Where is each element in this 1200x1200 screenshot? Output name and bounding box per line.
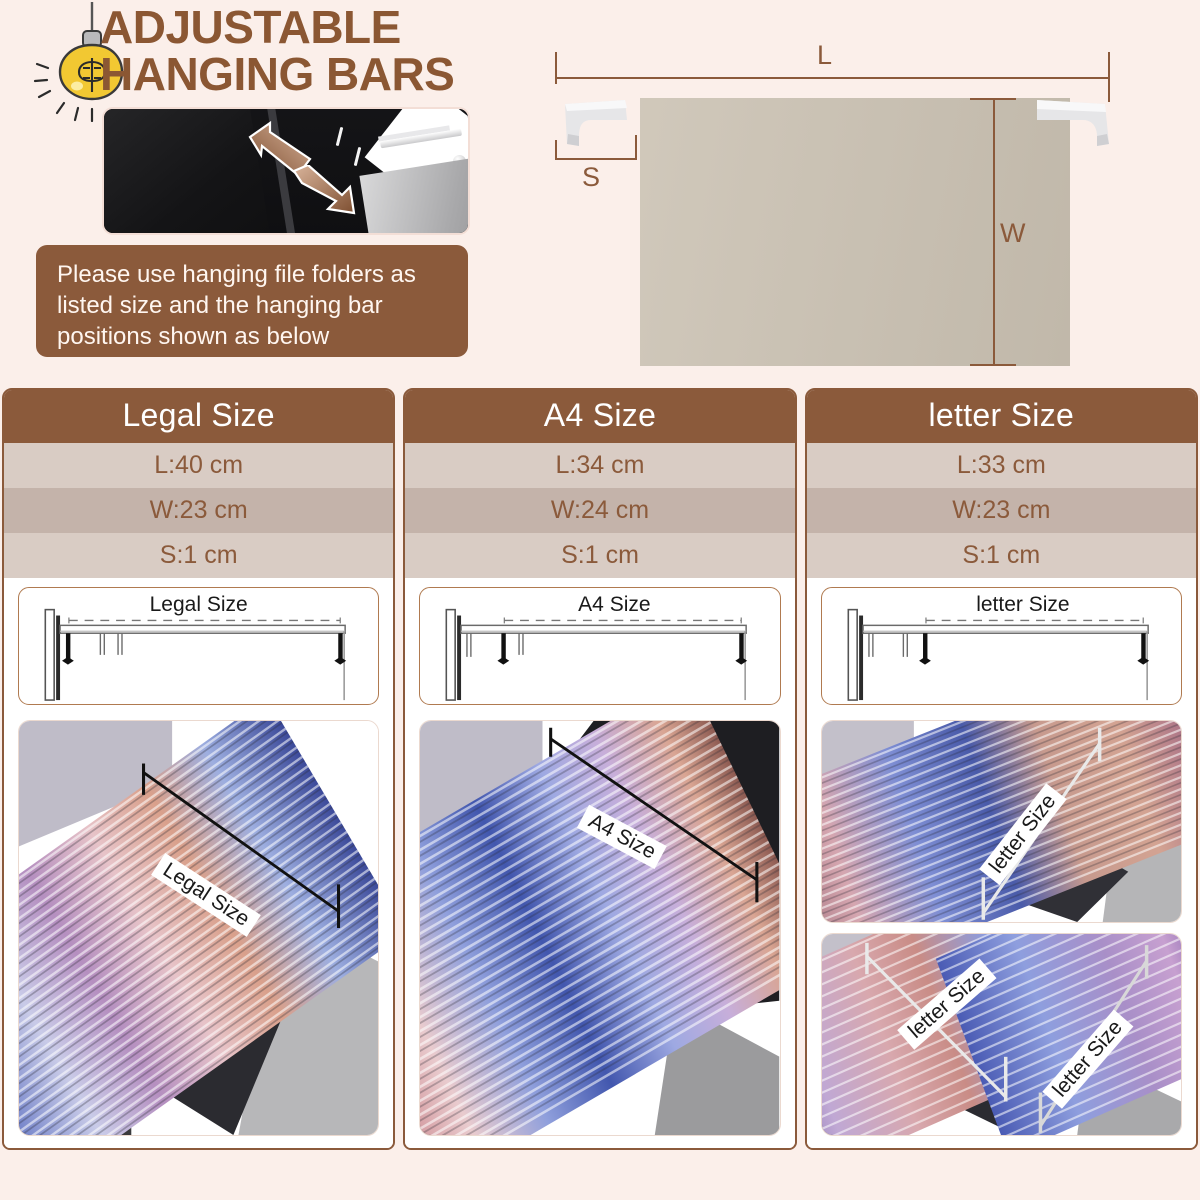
folder-photo-graphic [420,721,779,1135]
spec-L-a4: L:34 cm [405,443,794,488]
bar-position-diagram-a4: A4 Size [419,587,780,705]
arrow-down-right-icon [290,165,360,223]
photo-cell-a4: A4 Size [405,712,794,1148]
dim-S-line [555,158,637,160]
dim-label-S: S [582,162,600,193]
bar-diagram-label-legal: Legal Size [142,592,256,618]
size-table: Legal Size L:40 cm W:23 cm S:1 cm [0,388,1200,1150]
photo-cell-letter: letter Size [807,712,1196,1148]
header-section: ADJUSTABLE HANGING BARS [0,0,1200,385]
title-line-1: ADJUSTABLE [100,4,570,51]
bar-position-cell-letter: letter Size [807,578,1196,712]
dim-L-line [555,77,1110,79]
column-header-a4: A4 Size [405,390,794,443]
bar-position-diagram-legal: Legal Size [18,587,379,705]
dim-label-L: L [817,40,832,71]
size-column-a4: A4 Size L:34 cm W:24 cm S:1 cm [403,388,796,1150]
dim-L-tick-right [1108,52,1110,102]
folder-photo-letter-1: letter Size [821,720,1182,923]
instruction-note: Please use hanging file folders as liste… [36,245,468,357]
hanging-bar-hook-icon [563,98,643,150]
page-title: ADJUSTABLE HANGING BARS [100,4,570,98]
size-column-legal: Legal Size L:40 cm W:23 cm S:1 cm [2,388,395,1150]
folder-photo-graphic [822,721,1181,922]
folder-photo-letter-2: letter Size letter Size [821,933,1182,1136]
spec-W-legal: W:23 cm [4,488,393,533]
dim-W-line [993,98,995,366]
bar-position-cell-a4: A4 Size [405,578,794,712]
spec-L-letter: L:33 cm [807,443,1196,488]
column-header-letter: letter Size [807,390,1196,443]
title-line-2: HANGING BARS [100,51,570,98]
photo-cell-legal: Legal Size [4,712,393,1148]
dimension-diagram: L S W [545,40,1185,380]
dim-W-tick-bottom [970,364,1016,366]
folder-photo-graphic [19,721,378,1135]
bar-position-cell-legal: Legal Size [4,578,393,712]
spec-W-a4: W:24 cm [405,488,794,533]
bar-diagram-label-letter: letter Size [968,592,1077,618]
bar-diagram-label-a4: A4 Size [570,592,658,618]
folder-photo-a4: A4 Size [419,720,780,1136]
dim-label-W: W [1000,218,1025,249]
dim-S-tick-left [555,140,557,160]
spec-L-legal: L:40 cm [4,443,393,488]
spec-W-letter: W:23 cm [807,488,1196,533]
folder-photo-legal: Legal Size [18,720,379,1136]
product-photo-drawer [102,107,470,235]
bar-position-diagram-letter: letter Size [821,587,1182,705]
hanging-bar-hook-icon [1035,98,1115,150]
spec-S-a4: S:1 cm [405,533,794,578]
folder-photo-graphic [822,934,1181,1135]
spec-S-letter: S:1 cm [807,533,1196,578]
size-column-letter: letter Size L:33 cm W:23 cm S:1 cm [805,388,1198,1150]
dim-S-tick-right [635,135,637,160]
dim-L-tick-left [555,52,557,84]
column-header-legal: Legal Size [4,390,393,443]
spec-S-legal: S:1 cm [4,533,393,578]
